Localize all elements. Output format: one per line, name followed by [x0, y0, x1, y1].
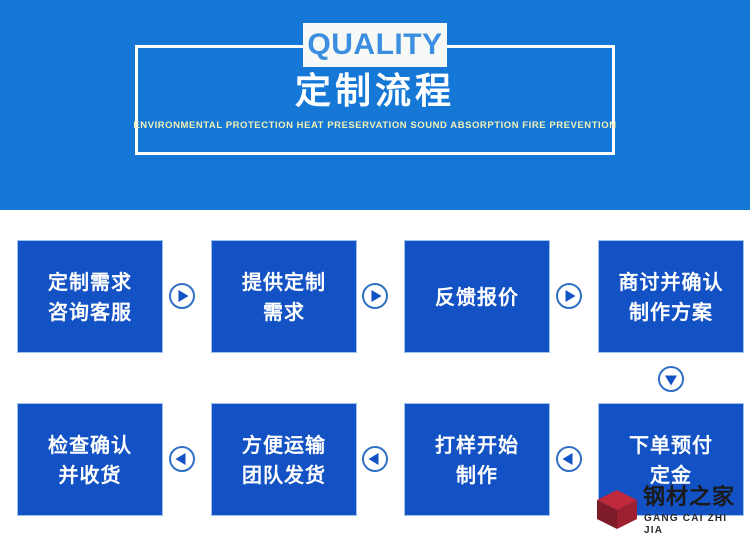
flow-step-5-label: 下单预付 定金 — [629, 430, 713, 490]
page-title: 定制流程 — [0, 70, 750, 114]
header-banner: QUALITY 定制流程 ENVIRONMENTAL PROTECTION HE… — [0, 0, 750, 210]
arrow-right-icon — [169, 283, 195, 309]
arrow-right-icon — [362, 283, 388, 309]
arrow-down-icon — [658, 366, 684, 392]
arrow-left-icon — [362, 446, 388, 472]
watermark-main-text: 钢材之家 — [643, 485, 735, 511]
quality-badge: QUALITY — [303, 23, 447, 67]
quality-badge-label: QUALITY — [307, 30, 442, 60]
flow-step-8-label: 检查确认 并收货 — [48, 430, 132, 490]
watermark-logo: 钢材之家 GANG CAI ZHI JIA — [595, 484, 745, 534]
flow-step-6-label: 打样开始 制作 — [435, 430, 519, 490]
flow-step-7-label: 方便运输 团队发货 — [242, 430, 326, 490]
flow-step-4: 商讨并确认 制作方案 — [598, 240, 744, 353]
flow-step-2: 提供定制 需求 — [211, 240, 357, 353]
arrow-left-icon — [556, 446, 582, 472]
flow-step-1-label: 定制需求 咨询客服 — [48, 267, 132, 327]
arrow-left-icon — [169, 446, 195, 472]
flow-step-8: 检查确认 并收货 — [17, 403, 163, 516]
arrow-right-icon — [556, 283, 582, 309]
flow-step-2-label: 提供定制 需求 — [242, 267, 326, 327]
cube-logo-icon — [595, 488, 639, 530]
flow-step-6: 打样开始 制作 — [404, 403, 550, 516]
flow-step-3: 反馈报价 — [404, 240, 550, 353]
flow-step-3-label: 反馈报价 — [435, 282, 519, 312]
flow-step-4-label: 商讨并确认 制作方案 — [619, 267, 724, 327]
flow-step-7: 方便运输 团队发货 — [211, 403, 357, 516]
watermark-sub-text: GANG CAI ZHI JIA — [644, 513, 745, 537]
page-subtitle: ENVIRONMENTAL PROTECTION HEAT PRESERVATI… — [0, 119, 750, 133]
flow-step-1: 定制需求 咨询客服 — [17, 240, 163, 353]
